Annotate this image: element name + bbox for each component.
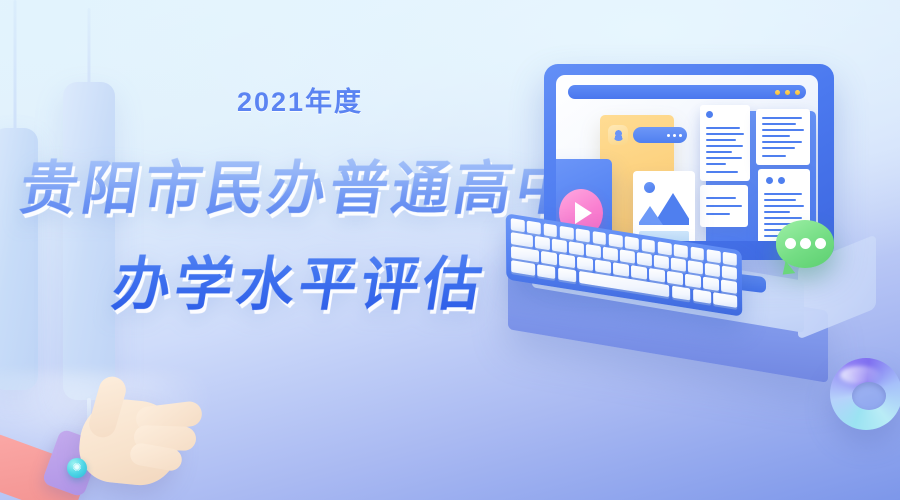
sun-icon: [644, 182, 655, 193]
text-line: [764, 211, 790, 213]
text-line: [706, 157, 742, 159]
key: [560, 226, 574, 240]
window-dot-icon: [785, 90, 790, 95]
key: [641, 239, 655, 253]
desk-illustration: [498, 52, 900, 452]
bullet-icon: [766, 177, 773, 184]
key: [707, 249, 721, 263]
text-line: [762, 155, 786, 157]
text-line: [764, 217, 802, 219]
text-line: [706, 171, 738, 173]
document-card-4: [700, 185, 748, 227]
key: [713, 293, 737, 308]
text-line: [706, 163, 726, 165]
torus-decoration: [830, 358, 900, 430]
key: [541, 251, 557, 265]
window-dot-icon: [775, 90, 780, 95]
pill-dot-icon: [679, 134, 682, 137]
key: [511, 232, 533, 247]
bullet-icon: [706, 111, 713, 118]
key: [688, 260, 703, 274]
monitor-screen: [556, 75, 818, 241]
avatar-glyph: [613, 130, 624, 141]
key: [722, 266, 737, 280]
key: [658, 241, 672, 255]
key: [558, 268, 576, 283]
key: [703, 277, 719, 291]
text-line: [706, 145, 743, 147]
key: [527, 221, 541, 235]
chat-dot-icon: [815, 238, 826, 249]
key: [603, 247, 618, 261]
text-line: [762, 117, 802, 119]
key: [721, 280, 737, 294]
chat-bubble-tail: [783, 261, 798, 277]
key: [586, 244, 601, 258]
chat-bubble: [776, 220, 834, 268]
key: [631, 265, 647, 279]
text-line: [762, 123, 796, 125]
document-card-2: [756, 109, 810, 165]
photo-card: [633, 171, 695, 241]
text-line: [706, 127, 740, 129]
text-line: [762, 135, 790, 137]
key: [511, 260, 535, 275]
watch-button-icon: ✺: [67, 458, 87, 478]
chat-dot-icon: [800, 238, 811, 249]
mountain-peak: [639, 206, 663, 225]
text-line: [764, 205, 804, 207]
key: [693, 289, 711, 304]
text-line: [764, 199, 796, 201]
key: [690, 247, 704, 261]
document-card-1: [700, 105, 750, 181]
watch-glyph: ✺: [72, 463, 81, 474]
key: [671, 258, 686, 272]
key: [577, 257, 593, 271]
torus-gloss: [840, 366, 880, 384]
key: [637, 252, 652, 266]
key: [543, 223, 557, 237]
play-triangle: [575, 202, 592, 224]
key: [552, 239, 567, 253]
key: [559, 254, 575, 268]
key: [576, 228, 590, 242]
key: [649, 268, 665, 282]
text-line: [762, 147, 795, 149]
pointing-hand: ✺: [0, 382, 214, 500]
text-line: [762, 129, 804, 131]
key: [672, 286, 690, 301]
pill-dot-icon: [673, 134, 676, 137]
browser-address-bar: [568, 85, 806, 99]
key: [511, 246, 539, 262]
key: [620, 250, 635, 264]
chat-dot-icon: [785, 238, 796, 249]
text-line: [706, 139, 736, 141]
key: [537, 265, 555, 280]
torus-hole: [852, 382, 886, 410]
key: [625, 236, 639, 250]
key: [613, 263, 629, 277]
banner: 2021年度 贵阳市民办普通高中 办学水平评估: [0, 0, 900, 500]
text-line: [706, 213, 730, 215]
key: [674, 244, 688, 258]
key: [595, 260, 611, 274]
key: [592, 231, 606, 245]
key: [685, 274, 701, 288]
key: [609, 234, 623, 248]
key: [569, 241, 584, 255]
key: [667, 271, 683, 285]
window-dot-icon: [795, 90, 800, 95]
search-pill: [633, 127, 687, 143]
text-line: [762, 141, 802, 143]
key: [723, 252, 737, 266]
tower-spire: [88, 8, 91, 86]
text-line: [706, 133, 744, 135]
image-placeholder-icon: [639, 177, 689, 225]
key: [511, 218, 525, 232]
user-avatar-icon: [608, 125, 628, 145]
text-line: [706, 205, 742, 207]
key: [705, 263, 720, 277]
text-line: [706, 151, 732, 153]
pill-dot-icon: [667, 134, 670, 137]
key: [654, 255, 669, 269]
text-line: [706, 197, 736, 199]
text-line: [764, 193, 802, 195]
key: [535, 236, 550, 250]
bullet-icon: [778, 177, 785, 184]
